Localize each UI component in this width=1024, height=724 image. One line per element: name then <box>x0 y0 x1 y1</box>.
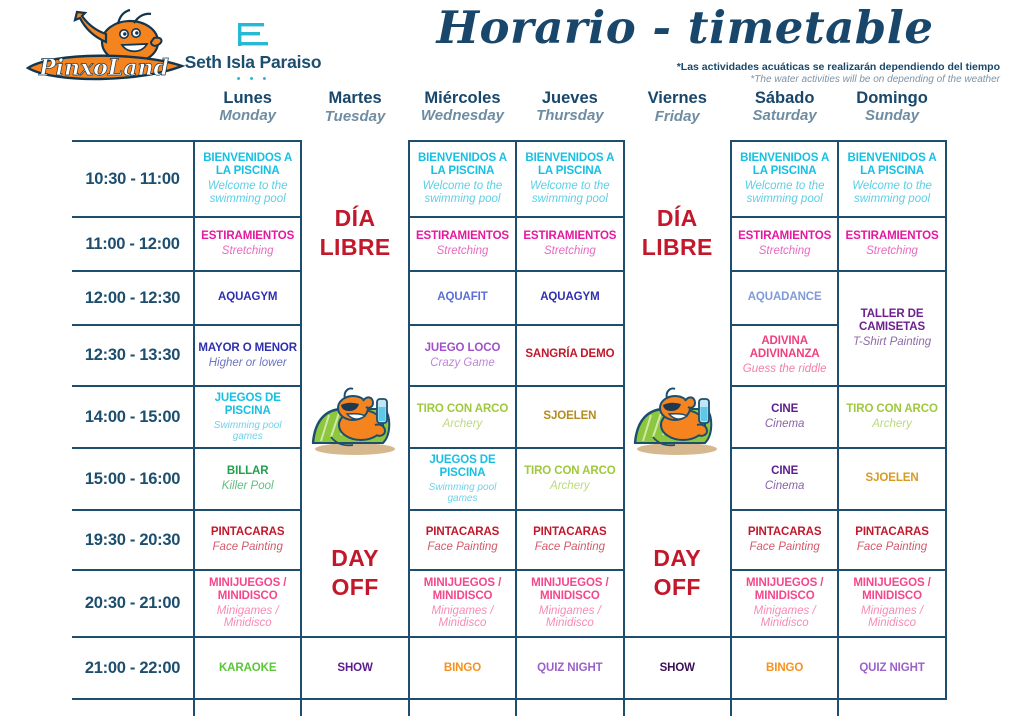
time-slot: 14:00 - 15:00 <box>72 386 194 448</box>
time-slot: 10:30 - 11:00 <box>72 141 194 217</box>
activity-en: Minigames / Minidisco <box>842 605 941 631</box>
activity-en: Higher or lower <box>198 357 297 370</box>
time-slot: 11:00 - 12:00 <box>72 217 194 271</box>
table-row: 19:30 - 20:30 PINTACARASFace Painting DA… <box>72 510 946 570</box>
day-label-es: Martes <box>301 89 408 108</box>
activity: CINECinema <box>732 399 837 435</box>
cell-jueves-1930[interactable]: PINTACARASFace Painting <box>516 510 623 570</box>
activity: ESTIRAMIENTOSStretching <box>517 226 622 262</box>
activity-es: PINTACARAS <box>735 526 834 539</box>
activity: PINTACARASFace Painting <box>517 522 622 558</box>
activity: MAYOR O MENORHigher or lower <box>195 338 300 374</box>
table-row: 11:00 - 12:00 ESTIRAMIENTOSStretching ES… <box>72 217 946 271</box>
activity-es: MINIJUEGOS / MINIDISCO <box>520 577 619 603</box>
cell-viernes-day-off: DAY OFF <box>624 510 731 637</box>
activity: SHOW <box>625 658 730 679</box>
activity-es: PINTACARAS <box>842 526 941 539</box>
activity-es: MINIJUEGOS / MINIDISCO <box>198 577 297 603</box>
activity-en: Minigames / Minidisco <box>735 605 834 631</box>
time-slot: 12:30 - 13:30 <box>72 325 194 386</box>
activity: ESTIRAMIENTOSStretching <box>839 226 944 262</box>
activity-es: CINE <box>735 465 834 478</box>
activity-es: KARAOKE <box>198 662 297 675</box>
cell-jueves-1500[interactable]: TIRO CON ARCOArchery <box>516 448 623 510</box>
free-day-es: DÍA LIBRE <box>625 204 730 262</box>
cell-domingo-1200-taller[interactable]: TALLER DE CAMISETAST-Shirt Painting <box>838 271 945 386</box>
day-header-martes: Martes Tuesday <box>301 78 408 141</box>
day-label-en: Thursday <box>516 107 623 125</box>
activity: MINIJUEGOS / MINIDISCOMinigames / Minidi… <box>195 573 300 635</box>
cell-sabado-1200[interactable]: AQUADANCE <box>731 271 838 325</box>
activity-en: Face Painting <box>735 541 834 554</box>
free-day-es-line2: LIBRE <box>302 233 407 262</box>
cell-domingo-2100[interactable]: QUIZ NIGHT <box>838 637 945 699</box>
cell-sabado-2030[interactable]: MINIJUEGOS / MINIDISCOMinigames / Minidi… <box>731 570 838 637</box>
free-day-es-line1: DÍA <box>302 204 407 233</box>
activity-en: Stretching <box>842 245 941 258</box>
activity-en: Stretching <box>735 245 834 258</box>
activity-es: CINE <box>735 403 834 416</box>
activity: BIENVENIDOS A LA PISCINAWelcome to the s… <box>732 148 837 210</box>
time-slot: 21:00 - 22:00 <box>72 637 194 699</box>
hotel-name: Seth Isla Paraiso <box>178 52 328 73</box>
cell-miercoles-1030[interactable]: BIENVENIDOS A LA PISCINAWelcome to the s… <box>409 141 516 217</box>
activity: BINGO <box>732 658 837 679</box>
cell-lunes-1930[interactable]: PINTACARASFace Painting <box>194 510 301 570</box>
cell-miercoles-1400[interactable]: TIRO CON ARCOArchery <box>409 386 516 448</box>
activity: BIENVENIDOS A LA PISCINAWelcome to the s… <box>410 148 515 210</box>
table-row: 14:00 - 15:00 JUEGOS DE PISCINASwimming … <box>72 386 946 448</box>
activity-es: TIRO CON ARCO <box>520 465 619 478</box>
activity-es: MINIJUEGOS / MINIDISCO <box>735 577 834 603</box>
activity-en: Guess the riddle <box>735 363 834 376</box>
activity-es: ESTIRAMIENTOS <box>842 230 941 243</box>
cell-sabado-1400[interactable]: CINECinema <box>731 386 838 448</box>
free-day-en: DAY OFF <box>625 544 730 602</box>
activity: QUIZ NIGHT <box>839 658 944 679</box>
free-day-en-line2: OFF <box>625 573 730 602</box>
activity-es: JUEGOS DE PISCINA <box>413 454 512 480</box>
cell-viernes-free-day: DÍA LIBRE <box>624 141 731 325</box>
cell-sabado-1930[interactable]: PINTACARASFace Painting <box>731 510 838 570</box>
day-label-en: Tuesday <box>301 108 408 126</box>
activity: JUEGO LOCOCrazy Game <box>410 338 515 374</box>
cell-viernes-mascot <box>624 325 731 510</box>
cell-sabado-1030[interactable]: BIENVENIDOS A LA PISCINAWelcome to the s… <box>731 141 838 217</box>
time-slot: 19:30 - 20:30 <box>72 510 194 570</box>
activity: SANGRÍA DEMO <box>517 344 622 367</box>
cell-sabado-2100[interactable]: BINGO <box>731 637 838 699</box>
time-slot: 15:00 - 16:00 <box>72 448 194 510</box>
day-label-es: Miércoles <box>409 89 516 108</box>
activity-en: Face Painting <box>198 541 297 554</box>
activity-en: Welcome to the swimming pool <box>198 180 297 206</box>
activity-es: AQUAGYM <box>520 291 619 304</box>
mascot-sunbathing-icon <box>307 379 403 457</box>
activity-es: BINGO <box>413 662 512 675</box>
activity-en: T-Shirt Painting <box>842 336 941 349</box>
activity-en: Crazy Game <box>413 357 512 370</box>
activity: TIRO CON ARCOArchery <box>517 461 622 497</box>
activity: BIENVENIDOS A LA PISCINAWelcome to the s… <box>195 148 300 210</box>
activity: TIRO CON ARCOArchery <box>839 399 944 435</box>
table-row: 12:00 - 12:30 AQUAGYM AQUAFIT AQUAGYM AQ… <box>72 271 946 325</box>
activity-en: Archery <box>413 418 512 431</box>
activity-en: Cinema <box>735 418 834 431</box>
activity: ESTIRAMIENTOSStretching <box>195 226 300 262</box>
activity: PINTACARASFace Painting <box>195 522 300 558</box>
activity: MINIJUEGOS / MINIDISCOMinigames / Minidi… <box>410 573 515 635</box>
day-label-es: Sábado <box>731 89 838 108</box>
activity: TIRO CON ARCOArchery <box>410 399 515 435</box>
day-label-en: Monday <box>194 107 301 125</box>
stub-sabado <box>731 699 838 716</box>
cell-jueves-1200[interactable]: AQUAGYM <box>516 271 623 325</box>
activity-en: Minigames / Minidisco <box>413 605 512 631</box>
cell-miercoles-1200[interactable]: AQUAFIT <box>409 271 516 325</box>
activity-es: ADIVINA ADIVINANZA <box>735 335 834 361</box>
activity-es: AQUAGYM <box>198 291 297 304</box>
day-header-jueves: Jueves Thursday <box>516 78 623 141</box>
stub-viernes <box>624 699 731 716</box>
stub-domingo <box>838 699 945 716</box>
activity: AQUAFIT <box>410 287 515 310</box>
cell-lunes-1400[interactable]: JUEGOS DE PISCINASwimming pool games <box>194 386 301 448</box>
activity: MINIJUEGOS / MINIDISCOMinigames / Minidi… <box>732 573 837 635</box>
activity-es: BIENVENIDOS A LA PISCINA <box>735 152 834 178</box>
activity-es: PINTACARAS <box>413 526 512 539</box>
cell-jueves-1400[interactable]: SJOELEN <box>516 386 623 448</box>
timetable-page: PinxoLand Seth Isla Paraiso • • • Horari… <box>0 0 1024 724</box>
activity-en: Swimming pool games <box>413 482 512 504</box>
stub-jueves <box>516 699 623 716</box>
activity: PINTACARASFace Painting <box>839 522 944 558</box>
activity: BIENVENIDOS A LA PISCINAWelcome to the s… <box>839 148 944 210</box>
cell-sabado-1500[interactable]: CINECinema <box>731 448 838 510</box>
activity-es: SANGRÍA DEMO <box>520 348 619 361</box>
free-day-es-line1: DÍA <box>625 204 730 233</box>
activity: BILLARKiller Pool <box>195 461 300 497</box>
cell-jueves-1230[interactable]: SANGRÍA DEMO <box>516 325 623 386</box>
time-column-header <box>72 78 194 141</box>
activity-es: BIENVENIDOS A LA PISCINA <box>842 152 941 178</box>
activity-es: MAYOR O MENOR <box>198 342 297 355</box>
activity-en: Stretching <box>198 245 297 258</box>
cell-martes-2100[interactable]: SHOW <box>301 637 408 699</box>
activity-es: MINIJUEGOS / MINIDISCO <box>842 577 941 603</box>
activity-es: PINTACARAS <box>520 526 619 539</box>
activity-es: JUEGO LOCO <box>413 342 512 355</box>
cell-martes-free-day: DÍA LIBRE <box>301 141 408 325</box>
activity-es: AQUADANCE <box>735 291 834 304</box>
activity: KARAOKE <box>195 658 300 679</box>
time-slot: 20:30 - 21:00 <box>72 570 194 637</box>
activity: MINIJUEGOS / MINIDISCOMinigames / Minidi… <box>839 573 944 635</box>
activity-es: ESTIRAMIENTOS <box>413 230 512 243</box>
activity: TALLER DE CAMISETAST-Shirt Painting <box>839 304 944 353</box>
activity-en: Face Painting <box>842 541 941 554</box>
stub-martes <box>301 699 408 716</box>
timetable: Lunes Monday Martes Tuesday Miércoles We… <box>72 78 947 716</box>
activity: MINIJUEGOS / MINIDISCOMinigames / Minidi… <box>517 573 622 635</box>
activity: CINECinema <box>732 461 837 497</box>
activity-es: BIENVENIDOS A LA PISCINA <box>520 152 619 178</box>
cell-domingo-1100[interactable]: ESTIRAMIENTOSStretching <box>838 217 945 271</box>
activity-es: SHOW <box>628 662 727 675</box>
cell-martes-mascot <box>301 325 408 510</box>
activity-en: Cinema <box>735 480 834 493</box>
cell-domingo-1400[interactable]: TIRO CON ARCOArchery <box>838 386 945 448</box>
activity-en: Archery <box>520 480 619 493</box>
free-day-en-line1: DAY <box>302 544 407 573</box>
activity: BIENVENIDOS A LA PISCINAWelcome to the s… <box>517 148 622 210</box>
time-slot: 12:00 - 12:30 <box>72 271 194 325</box>
stub-time <box>72 699 194 716</box>
cell-lunes-1200[interactable]: AQUAGYM <box>194 271 301 325</box>
cell-jueves-2100[interactable]: QUIZ NIGHT <box>516 637 623 699</box>
free-day-en-line1: DAY <box>625 544 730 573</box>
cell-jueves-1030[interactable]: BIENVENIDOS A LA PISCINAWelcome to the s… <box>516 141 623 217</box>
cell-lunes-1230[interactable]: MAYOR O MENORHigher or lower <box>194 325 301 386</box>
day-label-es: Lunes <box>194 89 301 108</box>
activity: JUEGOS DE PISCINASwimming pool games <box>195 388 300 446</box>
activity-es: QUIZ NIGHT <box>842 662 941 675</box>
cell-domingo-2030[interactable]: MINIJUEGOS / MINIDISCOMinigames / Minidi… <box>838 570 945 637</box>
activity-en: Welcome to the swimming pool <box>520 180 619 206</box>
day-header-lunes: Lunes Monday <box>194 78 301 141</box>
cell-lunes-2100[interactable]: KARAOKE <box>194 637 301 699</box>
day-header-row: Lunes Monday Martes Tuesday Miércoles We… <box>72 78 946 141</box>
activity: SJOELEN <box>839 468 944 491</box>
activity-es: MINIJUEGOS / MINIDISCO <box>413 577 512 603</box>
activity: JUEGOS DE PISCINASwimming pool games <box>410 450 515 508</box>
cell-jueves-1100[interactable]: ESTIRAMIENTOSStretching <box>516 217 623 271</box>
hotel-brand: Seth Isla Paraiso • • • <box>178 22 328 82</box>
cell-domingo-1030[interactable]: BIENVENIDOS A LA PISCINAWelcome to the s… <box>838 141 945 217</box>
day-header-viernes: Viernes Friday <box>624 78 731 141</box>
activity: AQUADANCE <box>732 287 837 310</box>
activity-en: Stretching <box>520 245 619 258</box>
cell-miercoles-1230[interactable]: JUEGO LOCOCrazy Game <box>409 325 516 386</box>
cell-miercoles-1930[interactable]: PINTACARASFace Painting <box>409 510 516 570</box>
activity-en: Face Painting <box>520 541 619 554</box>
day-label-es: Viernes <box>624 89 731 108</box>
cell-viernes-2100[interactable]: SHOW <box>624 637 731 699</box>
activity: PINTACARASFace Painting <box>732 522 837 558</box>
cell-martes-day-off: DAY OFF <box>301 510 408 637</box>
activity-es: JUEGOS DE PISCINA <box>198 392 297 418</box>
cell-jueves-2030[interactable]: MINIJUEGOS / MINIDISCOMinigames / Minidi… <box>516 570 623 637</box>
mascot-sunbathing-icon <box>629 379 725 457</box>
activity-es: SJOELEN <box>842 472 941 485</box>
day-label-en: Friday <box>624 108 731 126</box>
cell-lunes-1100[interactable]: ESTIRAMIENTOSStretching <box>194 217 301 271</box>
activity-es: BIENVENIDOS A LA PISCINA <box>413 152 512 178</box>
free-day-es: DÍA LIBRE <box>302 204 407 262</box>
page-title: Horario - timetable <box>380 4 1000 51</box>
activity: AQUAGYM <box>195 287 300 310</box>
timetable-body: 10:30 - 11:00 BIENVENIDOS A LA PISCINAWe… <box>72 141 946 716</box>
table-row: 20:30 - 21:00 MINIJUEGOS / MINIDISCOMini… <box>72 570 946 637</box>
table-bottom-stub <box>72 699 946 716</box>
cell-domingo-1500[interactable]: SJOELEN <box>838 448 945 510</box>
cell-sabado-1230[interactable]: ADIVINA ADIVINANZAGuess the riddle <box>731 325 838 386</box>
free-day-en-line2: OFF <box>302 573 407 602</box>
activity-en: Minigames / Minidisco <box>198 605 297 631</box>
cell-miercoles-2100[interactable]: BINGO <box>409 637 516 699</box>
pinxoland-logo: PinxoLand <box>22 8 192 88</box>
day-header-miercoles: Miércoles Wednesday <box>409 78 516 141</box>
activity-es: AQUAFIT <box>413 291 512 304</box>
table-row: 12:30 - 13:30 MAYOR O MENORHigher or low… <box>72 325 946 386</box>
activity-en: Welcome to the swimming pool <box>413 180 512 206</box>
activity: ESTIRAMIENTOSStretching <box>732 226 837 262</box>
cell-miercoles-1500[interactable]: JUEGOS DE PISCINASwimming pool games <box>409 448 516 510</box>
day-label-en: Saturday <box>731 107 838 125</box>
activity-es: SHOW <box>305 662 404 675</box>
day-label-es: Jueves <box>516 89 623 108</box>
activity-es: TALLER DE CAMISETAS <box>842 308 941 334</box>
activity: PINTACARASFace Painting <box>410 522 515 558</box>
activity-en: Minigames / Minidisco <box>520 605 619 631</box>
table-row: 21:00 - 22:00 KARAOKE SHOW BINGO QUIZ NI… <box>72 637 946 699</box>
cell-domingo-1930[interactable]: PINTACARASFace Painting <box>838 510 945 570</box>
stub-lunes <box>194 699 301 716</box>
activity-en: Swimming pool games <box>198 420 297 442</box>
weather-note-es: *Las actividades acuáticas se realizarán… <box>380 61 1000 73</box>
activity-en: Stretching <box>413 245 512 258</box>
cell-lunes-2030[interactable]: MINIJUEGOS / MINIDISCOMinigames / Minidi… <box>194 570 301 637</box>
activity-en: Archery <box>842 418 941 431</box>
day-header-sabado: Sábado Saturday <box>731 78 838 141</box>
activity-es: ESTIRAMIENTOS <box>735 230 834 243</box>
timetable-grid: Lunes Monday Martes Tuesday Miércoles We… <box>72 78 946 716</box>
activity-es: SJOELEN <box>520 410 619 423</box>
activity-es: QUIZ NIGHT <box>520 662 619 675</box>
activity: SHOW <box>302 658 407 679</box>
cell-lunes-1500[interactable]: BILLARKiller Pool <box>194 448 301 510</box>
free-day-en: DAY OFF <box>302 544 407 602</box>
activity: QUIZ NIGHT <box>517 658 622 679</box>
activity-es: TIRO CON ARCO <box>842 403 941 416</box>
activity: ESTIRAMIENTOSStretching <box>410 226 515 262</box>
day-label-en: Sunday <box>838 107 945 125</box>
cell-miercoles-1100[interactable]: ESTIRAMIENTOSStretching <box>409 217 516 271</box>
cell-miercoles-2030[interactable]: MINIJUEGOS / MINIDISCOMinigames / Minidi… <box>409 570 516 637</box>
activity-es: BINGO <box>735 662 834 675</box>
cell-lunes-1030[interactable]: BIENVENIDOS A LA PISCINAWelcome to the s… <box>194 141 301 217</box>
activity-es: BIENVENIDOS A LA PISCINA <box>198 152 297 178</box>
table-row: 10:30 - 11:00 BIENVENIDOS A LA PISCINAWe… <box>72 141 946 217</box>
activity: SJOELEN <box>517 406 622 429</box>
activity-en: Welcome to the swimming pool <box>735 180 834 206</box>
cell-sabado-1100[interactable]: ESTIRAMIENTOSStretching <box>731 217 838 271</box>
activity-en: Welcome to the swimming pool <box>842 180 941 206</box>
stub-miercoles <box>409 699 516 716</box>
title-block: Horario - timetable *Las actividades acu… <box>380 4 1000 85</box>
table-row: 15:00 - 16:00 BILLARKiller Pool JUEGOS D… <box>72 448 946 510</box>
timetable-head: Lunes Monday Martes Tuesday Miércoles We… <box>72 78 946 141</box>
day-header-domingo: Domingo Sunday <box>838 78 945 141</box>
activity: ADIVINA ADIVINANZAGuess the riddle <box>732 331 837 380</box>
free-day-es-line2: LIBRE <box>625 233 730 262</box>
day-label-es: Domingo <box>838 89 945 108</box>
activity-en: Face Painting <box>413 541 512 554</box>
activity-es: PINTACARAS <box>198 526 297 539</box>
activity-es: ESTIRAMIENTOS <box>198 230 297 243</box>
seth-logo-icon <box>236 22 270 48</box>
activity: BINGO <box>410 658 515 679</box>
activity: AQUAGYM <box>517 287 622 310</box>
activity-en: Killer Pool <box>198 480 297 493</box>
day-label-en: Wednesday <box>409 107 516 125</box>
activity-es: TIRO CON ARCO <box>413 403 512 416</box>
activity-es: ESTIRAMIENTOS <box>520 230 619 243</box>
activity-es: BILLAR <box>198 465 297 478</box>
